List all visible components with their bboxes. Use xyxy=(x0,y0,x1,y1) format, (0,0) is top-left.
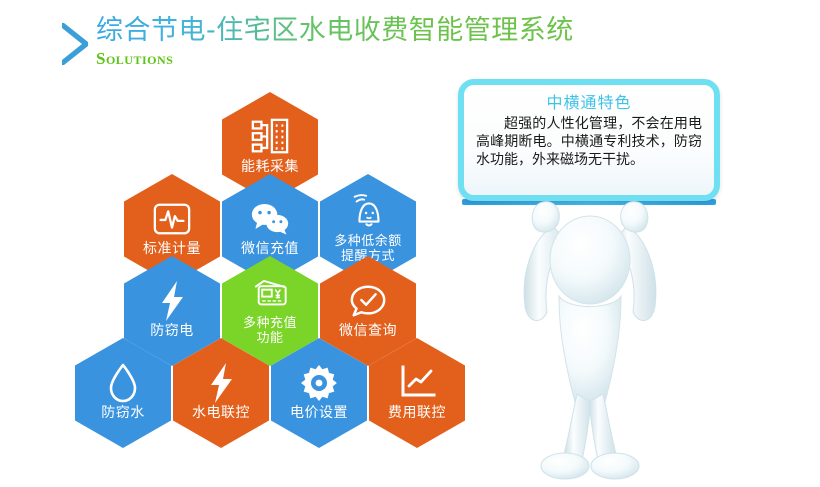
chevron-right-icon xyxy=(58,20,92,68)
page-title: 综合节电-住宅区水电收费智能管理系统 xyxy=(96,14,574,48)
chat-check-icon xyxy=(348,281,388,321)
water-drop-icon xyxy=(103,363,143,403)
callout-title: 中横通特色 xyxy=(476,93,702,113)
hex-tile-label: 能耗采集 xyxy=(241,159,299,175)
wechat-icon xyxy=(250,199,290,239)
lightning-bolt-icon xyxy=(152,281,192,321)
page-header: 综合节电-住宅区水电收费智能管理系统 Solutions xyxy=(58,14,758,84)
hex-tile-label: 费用联控 xyxy=(388,405,446,421)
callout-body: 超强的人性化管理，不会在用电高峰期断电。中横通专利技术，防窃水功能，外来磁场无干… xyxy=(476,115,702,169)
hex-tile-label: 电价设置 xyxy=(290,405,348,421)
network-building-icon xyxy=(250,117,290,157)
hex-tile-label: 微信查询 xyxy=(339,323,397,339)
hex-tile-label: 防窃水 xyxy=(101,405,145,421)
hex-tile-label: 多种充值 功能 xyxy=(243,316,297,346)
title-block: 综合节电-住宅区水电收费智能管理系统 Solutions xyxy=(96,14,574,69)
hex-tile-label: 标准计量 xyxy=(143,241,201,257)
bell-alert-icon xyxy=(348,192,388,232)
feature-callout-panel: 中横通特色 超强的人性化管理，不会在用电高峰期断电。中横通专利技术，防窃水功能，… xyxy=(458,79,720,201)
lightning-bolt-icon xyxy=(201,363,241,403)
hex-tile-label: 微信充值 xyxy=(241,241,299,257)
hexagon-feature-cluster: 能耗采集标准计量微信充值多种低余额 提醒方式防窃电多种充值 功能微信查询防窃水水… xyxy=(70,92,470,464)
waveform-meter-icon xyxy=(152,199,192,239)
gear-icon xyxy=(299,363,339,403)
hex-tile-label: 防窃电 xyxy=(150,323,194,339)
hex-tile-label: 水电联控 xyxy=(192,405,250,421)
payment-card-icon xyxy=(250,274,290,314)
person-holding-sign-figure xyxy=(485,198,695,483)
line-chart-icon xyxy=(397,363,437,403)
page-subtitle: Solutions xyxy=(96,49,574,69)
